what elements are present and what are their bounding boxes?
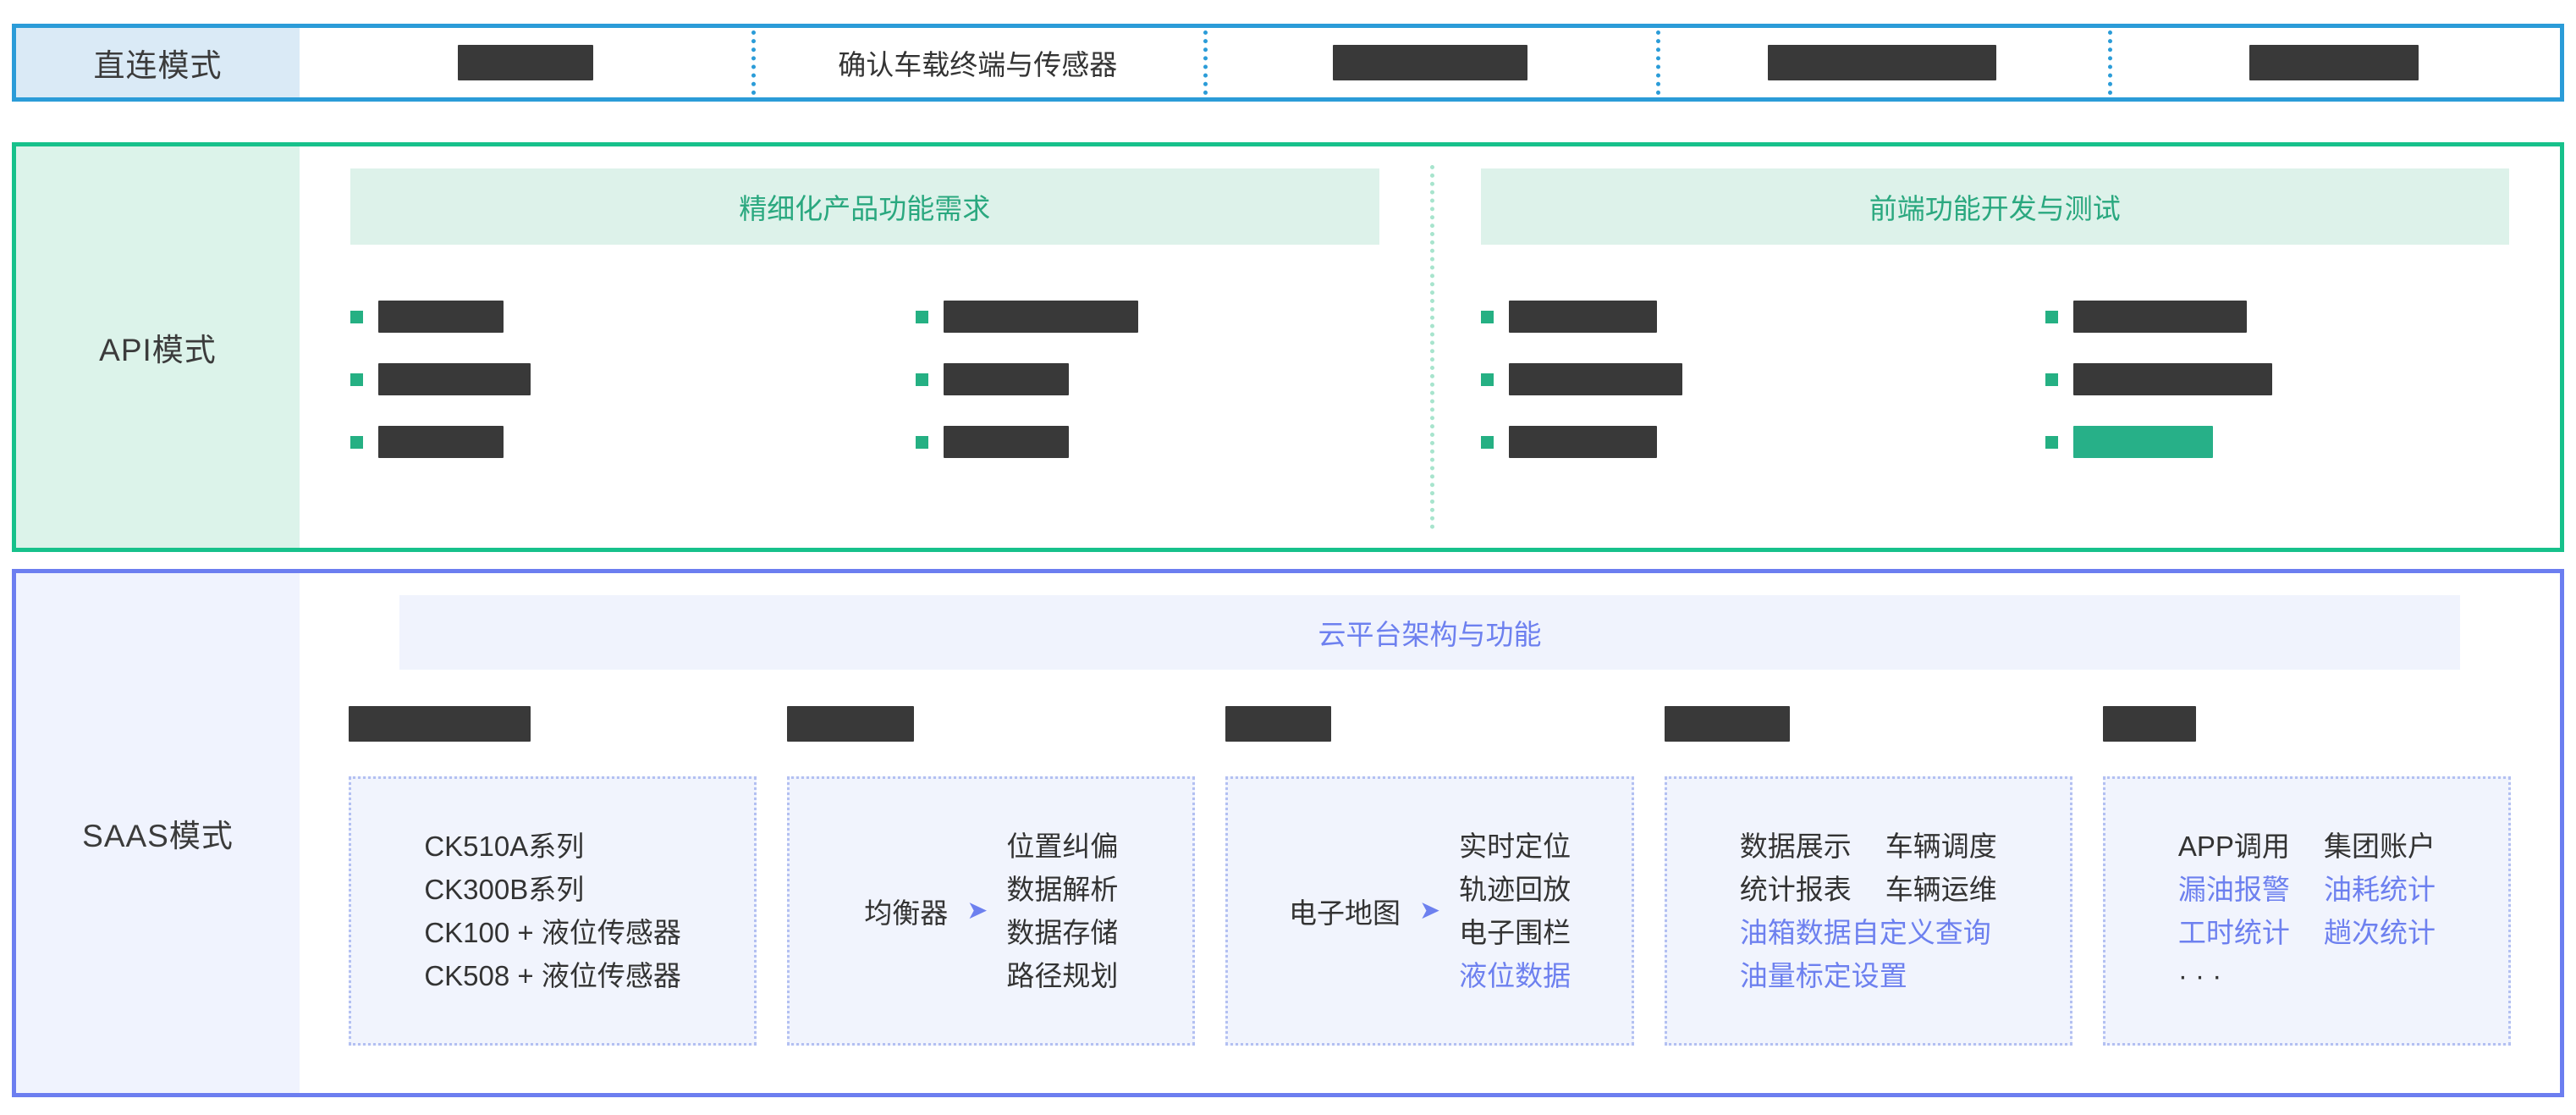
saas-feature-item: 实时定位 <box>1459 825 1571 868</box>
arrow-right-icon: ➤ <box>966 898 988 924</box>
saas-feature-box: APP调用集团账户漏油报警油耗统计工时统计趟次统计· · · <box>2103 776 2511 1046</box>
saas-feature-item: 集团账户 <box>2324 825 2436 868</box>
saas-feature-list: CK510A系列CK300B系列CK100 + 液位传感器CK508 + 液位传… <box>424 825 681 998</box>
direct-mode-step-5 <box>2108 28 2560 97</box>
redacted-text <box>1509 301 1657 333</box>
saas-feature-item: 漏油报警 <box>2178 868 2290 911</box>
saas-column-title <box>349 707 757 741</box>
saas-column-4: 数据展示车辆调度统计报表车辆运维油箱数据自定义查询油量标定设置 <box>1665 707 2072 1046</box>
saas-feature-box-inner: CK510A系列CK300B系列CK100 + 液位传感器CK508 + 液位传… <box>424 825 681 998</box>
redacted-text <box>1333 45 1527 80</box>
saas-feature-item: CK508 + 液位传感器 <box>424 954 681 997</box>
saas-feature-item: · · · <box>2178 954 2436 997</box>
api-list-item <box>1481 285 1995 348</box>
api-column-heading: 精细化产品功能需求 <box>350 168 1379 245</box>
saas-feature-item: 油量标定设置 <box>1740 954 1997 997</box>
redacted-text <box>378 363 531 395</box>
direct-mode-step-3 <box>1203 28 1655 97</box>
api-column-heading: 前端功能开发与测试 <box>1481 168 2510 245</box>
api-item-groups <box>300 285 1430 473</box>
redacted-text <box>1509 426 1657 458</box>
saas-feature-item: 车辆调度 <box>1885 825 1997 868</box>
saas-feature-box-inner: APP调用集团账户漏油报警油耗统计工时统计趟次统计· · · <box>2178 825 2436 998</box>
redacted-text <box>2073 426 2213 458</box>
api-list-item <box>916 411 1430 473</box>
bullet-square-icon <box>1481 373 1494 386</box>
redacted-text <box>2103 706 2196 742</box>
direct-mode-step-2: 确认车载终端与传感器 <box>751 28 1203 97</box>
bullet-square-icon <box>350 436 363 449</box>
saas-column-3: 电子地图➤实时定位轨迹回放电子围栏液位数据 <box>1225 707 1633 1046</box>
bullet-square-icon <box>1481 436 1494 449</box>
saas-feature-item: APP调用 <box>2178 825 2290 868</box>
api-item-group-2 <box>1995 285 2560 473</box>
api-column-2: 前端功能开发与测试 <box>1430 146 2561 548</box>
saas-column-container: CK510A系列CK300B系列CK100 + 液位传感器CK508 + 液位传… <box>300 707 2560 1046</box>
bullet-square-icon <box>2045 373 2058 386</box>
redacted-text <box>2073 363 2272 395</box>
row-api-mode-body: 精细化产品功能需求前端功能开发与测试 <box>300 146 2560 548</box>
redacted-text <box>378 426 504 458</box>
saas-column-5: APP调用集团账户漏油报警油耗统计工时统计趟次统计· · · <box>2103 707 2511 1046</box>
redacted-text <box>1665 706 1790 742</box>
redacted-text <box>378 301 504 333</box>
saas-feature-item: 数据展示 <box>1740 825 1852 868</box>
redacted-text <box>2249 45 2419 80</box>
saas-column-2: 均衡器➤位置纠偏数据解析数据存储路径规划 <box>787 707 1195 1046</box>
saas-feature-item: 车辆运维 <box>1885 868 1997 911</box>
row-saas-mode-body: 云平台架构与功能 CK510A系列CK300B系列CK100 + 液位传感器CK… <box>300 573 2560 1093</box>
saas-feature-item: 工时统计 <box>2178 911 2290 954</box>
saas-column-1: CK510A系列CK300B系列CK100 + 液位传感器CK508 + 液位传… <box>349 707 757 1046</box>
bullet-square-icon <box>2045 436 2058 449</box>
row-api-mode: API模式 精细化产品功能需求前端功能开发与测试 <box>12 142 2564 552</box>
saas-column-title <box>787 707 1195 741</box>
saas-feature-item: 电子围栏 <box>1459 911 1571 954</box>
saas-feature-grid: APP调用集团账户漏油报警油耗统计工时统计趟次统计· · · <box>2178 825 2436 998</box>
saas-feature-box-inner: 均衡器➤位置纠偏数据解析数据存储路径规划 <box>864 825 1118 998</box>
direct-mode-step-1 <box>300 28 751 97</box>
bullet-square-icon <box>2045 311 2058 323</box>
saas-feature-item: 油耗统计 <box>2324 868 2436 911</box>
row-direct-mode-body: 确认车载终端与传感器 <box>300 28 2560 97</box>
api-list-item <box>1481 411 1995 473</box>
saas-feature-box-inner: 电子地图➤实时定位轨迹回放电子围栏液位数据 <box>1289 825 1571 998</box>
saas-feature-item: 统计报表 <box>1740 868 1852 911</box>
saas-feature-item: CK510A系列 <box>424 825 681 868</box>
redacted-text <box>787 706 914 742</box>
saas-feature-item: 油箱数据自定义查询 <box>1740 911 1997 954</box>
api-item-groups <box>1430 285 2561 473</box>
text-label: 确认车载终端与传感器 <box>838 42 1117 83</box>
saas-feature-item: 轨迹回放 <box>1459 868 1571 911</box>
bullet-square-icon <box>916 311 928 323</box>
redacted-text <box>944 301 1138 333</box>
saas-feature-item: CK100 + 液位传感器 <box>424 911 681 954</box>
redacted-text <box>944 426 1069 458</box>
bullet-square-icon <box>916 436 928 449</box>
bullet-square-icon <box>1481 311 1494 323</box>
bullet-square-icon <box>916 373 928 386</box>
redacted-text <box>349 706 531 742</box>
api-list-item <box>350 348 865 411</box>
saas-feature-box: CK510A系列CK300B系列CK100 + 液位传感器CK508 + 液位传… <box>349 776 757 1046</box>
saas-source-label: 均衡器 <box>864 891 948 931</box>
api-item-group-1 <box>1430 285 1995 473</box>
api-list-item <box>916 285 1430 348</box>
saas-feature-box: 均衡器➤位置纠偏数据解析数据存储路径规划 <box>787 776 1195 1046</box>
saas-feature-grid: 数据展示车辆调度统计报表车辆运维油箱数据自定义查询油量标定设置 <box>1740 825 1997 998</box>
saas-feature-item: 位置纠偏 <box>1006 825 1118 868</box>
saas-feature-item: 趟次统计 <box>2324 911 2436 954</box>
arrow-right-icon: ➤ <box>1419 898 1440 924</box>
bullet-square-icon <box>350 311 363 323</box>
saas-feature-item: 数据解析 <box>1006 868 1118 911</box>
api-list-item <box>1481 348 1995 411</box>
saas-feature-item: 数据存储 <box>1006 911 1118 954</box>
saas-feature-list: 实时定位轨迹回放电子围栏液位数据 <box>1459 825 1571 998</box>
row-label-direct-mode: 直连模式 <box>16 28 300 97</box>
saas-feature-box: 数据展示车辆调度统计报表车辆运维油箱数据自定义查询油量标定设置 <box>1665 776 2072 1046</box>
api-list-item <box>2045 411 2560 473</box>
redacted-text <box>944 363 1069 395</box>
saas-column-title <box>2103 707 2511 741</box>
api-column-1: 精细化产品功能需求 <box>300 146 1430 548</box>
saas-source-label: 电子地图 <box>1289 891 1401 931</box>
saas-column-title <box>1225 707 1633 741</box>
redacted-text <box>1225 706 1331 742</box>
api-list-item <box>916 348 1430 411</box>
api-list-item <box>350 411 865 473</box>
saas-feature-box-inner: 数据展示车辆调度统计报表车辆运维油箱数据自定义查询油量标定设置 <box>1740 825 1997 998</box>
diagram-canvas: 直连模式 确认车载终端与传感器 API模式 精细化产品功能需求前端功能开发与测试… <box>0 0 2576 1115</box>
redacted-text <box>1768 45 1996 80</box>
bullet-square-icon <box>350 373 363 386</box>
saas-column-title <box>1665 707 2072 741</box>
saas-feature-item: CK300B系列 <box>424 868 681 911</box>
redacted-text <box>1509 363 1682 395</box>
direct-mode-step-4 <box>1656 28 2108 97</box>
row-saas-mode: SAAS模式 云平台架构与功能 CK510A系列CK300B系列CK100 + … <box>12 569 2564 1097</box>
api-list-item <box>2045 285 2560 348</box>
row-label-api-mode: API模式 <box>16 146 300 548</box>
saas-feature-list: 位置纠偏数据解析数据存储路径规划 <box>1006 825 1118 998</box>
api-item-group-2 <box>865 285 1430 473</box>
saas-section-heading: 云平台架构与功能 <box>399 595 2460 670</box>
row-label-saas-mode: SAAS模式 <box>16 573 300 1093</box>
redacted-text <box>458 45 593 80</box>
api-list-item <box>2045 348 2560 411</box>
saas-feature-item: 路径规划 <box>1006 954 1118 997</box>
row-direct-mode: 直连模式 确认车载终端与传感器 <box>12 24 2564 102</box>
api-item-group-1 <box>300 285 865 473</box>
saas-feature-item: 液位数据 <box>1459 954 1571 997</box>
redacted-text <box>2073 301 2247 333</box>
api-list-item <box>350 285 865 348</box>
saas-feature-box: 电子地图➤实时定位轨迹回放电子围栏液位数据 <box>1225 776 1633 1046</box>
